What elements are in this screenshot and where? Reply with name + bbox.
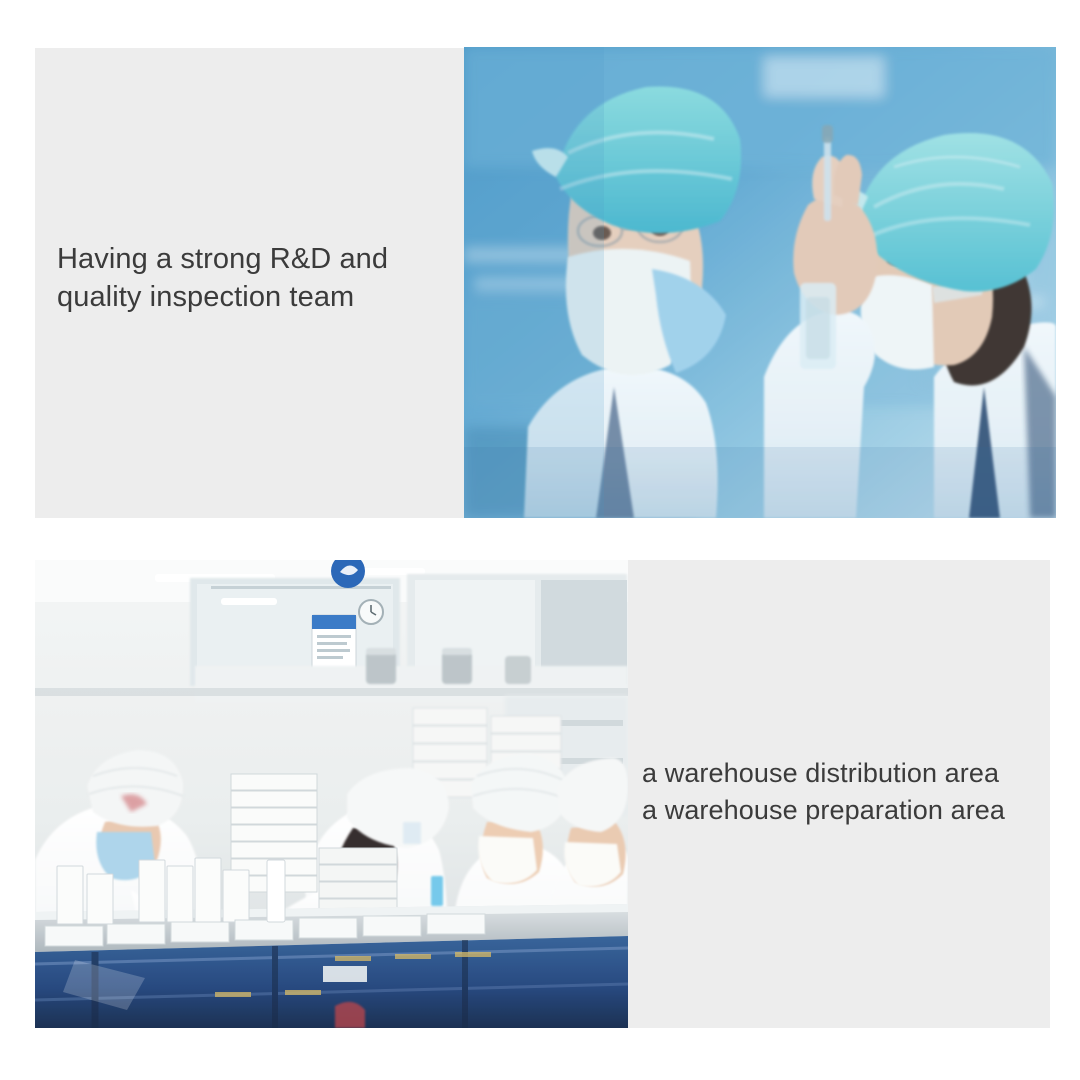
warehouse-section: a warehouse distribution area a warehous… bbox=[0, 540, 1080, 1080]
lab-photo-graphic bbox=[464, 47, 1056, 518]
rd-quality-section: Having a strong R&D and quality inspecti… bbox=[0, 0, 1080, 540]
warehouse-packing-photo bbox=[35, 560, 628, 1028]
lab-quality-inspection-photo bbox=[464, 47, 1056, 518]
warehouse-caption: a warehouse distribution area a warehous… bbox=[642, 755, 1052, 830]
rd-quality-caption: Having a strong R&D and quality inspecti… bbox=[57, 240, 457, 317]
warehouse-photo-graphic bbox=[35, 560, 628, 1028]
